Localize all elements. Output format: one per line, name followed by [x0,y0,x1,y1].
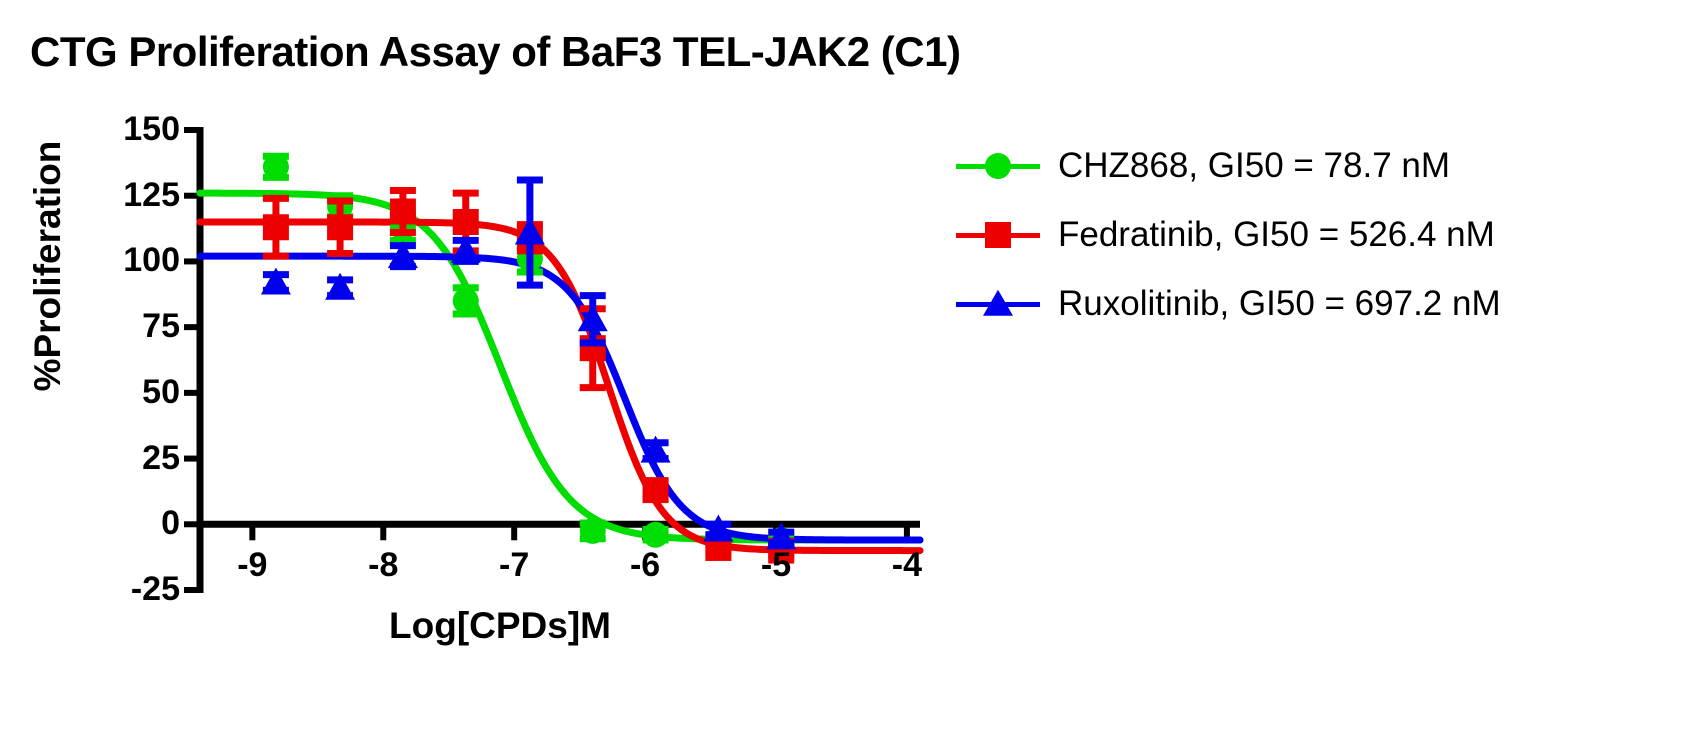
legend-symbol [985,153,1011,179]
legend-marker-circle-icon [952,149,1044,183]
legend-marker-triangle-icon [952,287,1044,321]
y-tick-label: 125 [60,178,180,212]
data-point-marker [263,214,289,240]
chart-root: CTG Proliferation Assay of BaF3 TEL-JAK2… [0,0,1707,750]
y-tick-label: 150 [60,112,180,146]
data-point-marker [643,522,669,548]
x-tick-label: -7 [474,548,554,582]
fit-curve-chz868 [200,193,920,540]
legend-symbol [985,222,1011,248]
x-tick-label: -4 [867,548,947,582]
legend-label: Ruxolitinib, GI50 = 697.2 nM [1044,284,1501,324]
legend-label: Fedratinib, GI50 = 526.4 nM [1044,215,1495,255]
x-axis-title: Log[CPDs]M [330,605,670,647]
y-tick-label: 50 [60,375,180,409]
x-tick-label: -9 [212,548,292,582]
data-point-marker [453,209,479,235]
legend-marker-square-icon [952,218,1044,252]
plot-area: %Proliferation Log[CPDs]M 15012510075502… [0,0,960,700]
y-tick-label: 25 [60,441,180,475]
legend-label: CHZ868, GI50 = 78.7 nM [1044,146,1450,186]
y-tick-label: -25 [60,572,180,606]
y-tick-label: 75 [60,309,180,343]
x-tick-label: -8 [343,548,423,582]
legend-item[interactable]: Ruxolitinib, GI50 = 697.2 nM [952,276,1501,331]
x-tick-label: -5 [736,548,816,582]
fit-curve-ruxolitinib [200,256,920,540]
data-point-marker [327,214,353,240]
y-tick-label: 100 [60,243,180,277]
data-point-marker [453,288,479,314]
legend-item[interactable]: Fedratinib, GI50 = 526.4 nM [952,207,1501,262]
legend-symbol [983,289,1013,315]
legend-item[interactable]: CHZ868, GI50 = 78.7 nM [952,138,1501,193]
data-point-marker [390,198,416,224]
data-point-marker [643,477,669,503]
data-point-marker [580,518,606,544]
y-tick-label: 0 [60,506,180,540]
x-tick-label: -6 [605,548,685,582]
data-point-marker [263,154,289,180]
chart-legend: CHZ868, GI50 = 78.7 nMFedratinib, GI50 =… [952,138,1501,345]
fit-curve-fedratinib [200,222,920,551]
